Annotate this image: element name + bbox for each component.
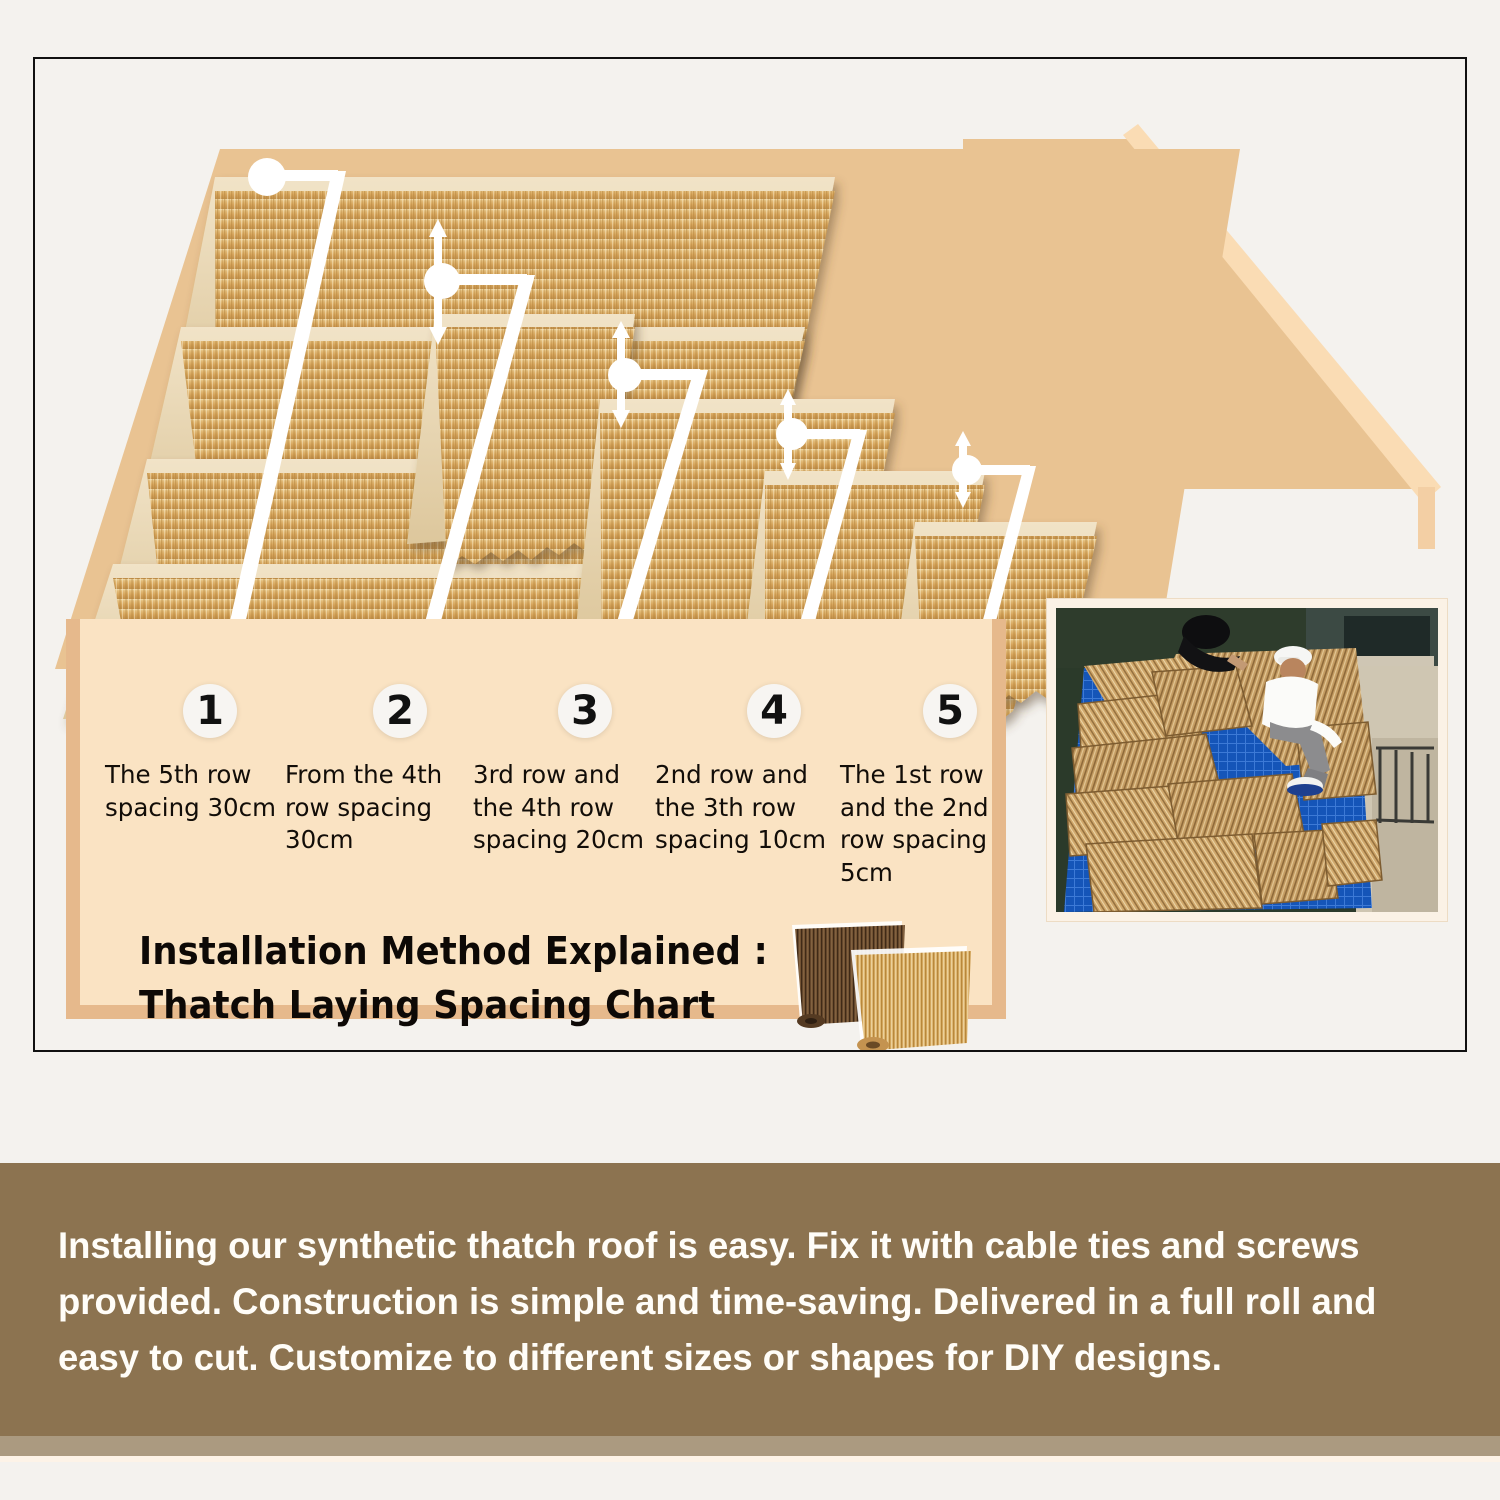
installation-photo bbox=[1056, 608, 1438, 912]
step-badge-2: 2 bbox=[373, 684, 427, 738]
step-badge-3: 3 bbox=[558, 684, 612, 738]
banner-lower-strip-light bbox=[0, 1456, 1500, 1462]
step-description-5: The 1st row and the 2nd row spacing 5cm bbox=[840, 759, 1020, 889]
step-number-1: 1 bbox=[196, 688, 224, 734]
step-description-3: 3rd row and the 4th row spacing 20cm bbox=[473, 759, 653, 857]
panel-title: Installation Method Explained : Thatch L… bbox=[139, 925, 768, 1033]
step-number-3: 3 bbox=[571, 688, 599, 734]
step-number-5: 5 bbox=[936, 688, 964, 734]
panel-title-line-1: Installation Method Explained : bbox=[139, 925, 768, 979]
step-badge-1: 1 bbox=[183, 684, 237, 738]
light-thatch-roll bbox=[851, 946, 971, 1052]
thatch-roll-samples-svg bbox=[773, 911, 1001, 1052]
step-number-2: 2 bbox=[386, 688, 414, 734]
step-description-2: From the 4th row spacing 30cm bbox=[285, 759, 460, 857]
step-badge-5: 5 bbox=[923, 684, 977, 738]
step-description-4: 2nd row and the 3th row spacing 10cm bbox=[655, 759, 835, 857]
bottom-banner-text: Installing our synthetic thatch roof is … bbox=[58, 1218, 1427, 1387]
step-badge-4: 4 bbox=[747, 684, 801, 738]
installation-photo-svg bbox=[1056, 608, 1438, 912]
infographic-panel: 30cm 30cm 20cm 10cm 5cm 1 2 3 4 5 The 5t… bbox=[33, 57, 1467, 1052]
installation-photo-frame bbox=[1047, 599, 1447, 921]
product-thumbnails bbox=[773, 911, 1001, 1052]
step-description-1: The 5th row spacing 30cm bbox=[105, 759, 280, 824]
panel-title-line-2: Thatch Laying Spacing Chart bbox=[139, 979, 768, 1033]
step-number-4: 4 bbox=[760, 688, 788, 734]
